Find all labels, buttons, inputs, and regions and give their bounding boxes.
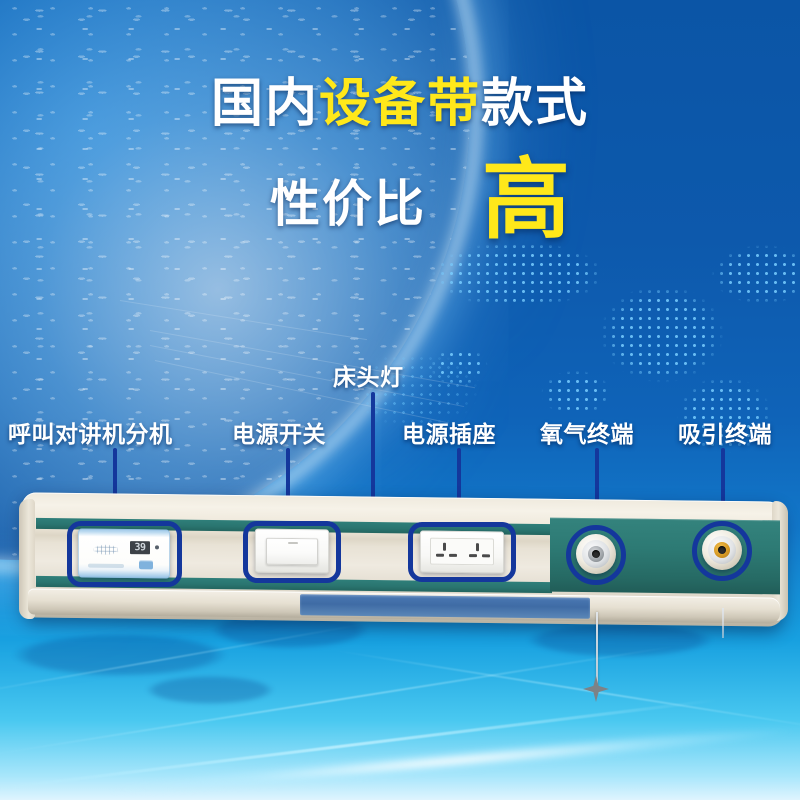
pull-cord[interactable] bbox=[596, 612, 598, 686]
headline-text-style: 款式 bbox=[481, 75, 589, 133]
headline-line-2: 性价比 高 bbox=[0, 158, 800, 242]
panel-rail-blue-insert bbox=[300, 594, 590, 619]
headline-block: 国内设备带款式 性价比 高 bbox=[0, 78, 800, 242]
headline-text-high: 高 bbox=[482, 158, 570, 242]
highlight-circle-suction-terminal bbox=[692, 521, 752, 581]
headline-text-value-ratio: 性价比 bbox=[270, 164, 426, 236]
highlight-box-power-switch bbox=[243, 521, 341, 583]
highlight-box-intercom bbox=[67, 521, 182, 587]
highlight-circle-oxygen-terminal bbox=[566, 525, 626, 585]
headline-text-equipment-belt: 设备带 bbox=[319, 75, 481, 133]
callout-label-power-socket: 电源插座 bbox=[402, 415, 496, 449]
highlight-box-power-socket bbox=[408, 522, 516, 582]
pull-cord-secondary bbox=[722, 608, 724, 638]
callout-label-oxygen-terminal: 氧气终端 bbox=[540, 415, 634, 449]
promo-banner: 国内设备带款式 性价比 高 呼叫对讲机分机 电源开关 床头灯 电源插座 氧气终端… bbox=[0, 0, 800, 800]
headline-text-domestic: 国内 bbox=[211, 75, 319, 133]
callout-label-bed-lamp: 床头灯 bbox=[333, 358, 404, 392]
callout-label-power-switch: 电源开关 bbox=[232, 415, 326, 449]
callout-label-suction-terminal: 吸引终端 bbox=[678, 415, 772, 449]
headline-line-1: 国内设备带款式 bbox=[0, 78, 800, 130]
callout-label-intercom: 呼叫对讲机分机 bbox=[8, 415, 173, 449]
